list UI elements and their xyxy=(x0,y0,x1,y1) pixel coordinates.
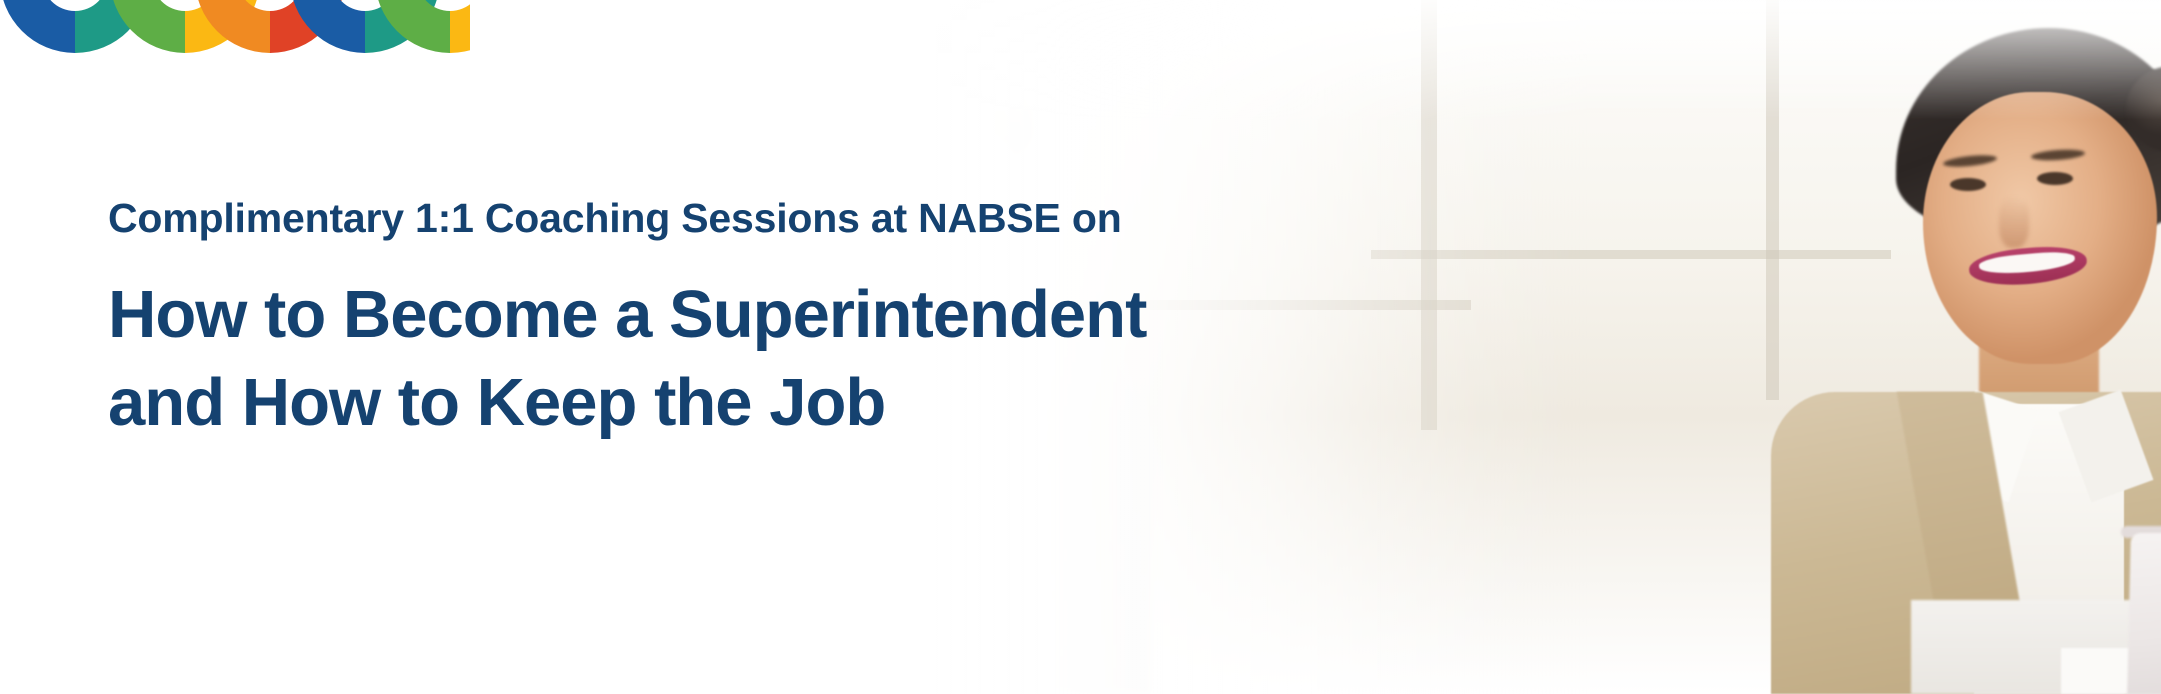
promo-banner: Complimentary 1:1 Coaching Sessions at N… xyxy=(0,0,2161,694)
banner-eyebrow: Complimentary 1:1 Coaching Sessions at N… xyxy=(108,196,1146,241)
banner-copy: Complimentary 1:1 Coaching Sessions at N… xyxy=(108,196,1146,444)
headline-line-2: and How to Keep the Job xyxy=(108,363,1146,443)
photo-top-fade-overlay xyxy=(731,0,2161,120)
overlapping-rings-logo-icon[interactable] xyxy=(0,0,470,58)
page-title: How to Become a Superintendent and How t… xyxy=(108,275,1146,444)
headline-line-1: How to Become a Superintendent xyxy=(108,277,1146,352)
